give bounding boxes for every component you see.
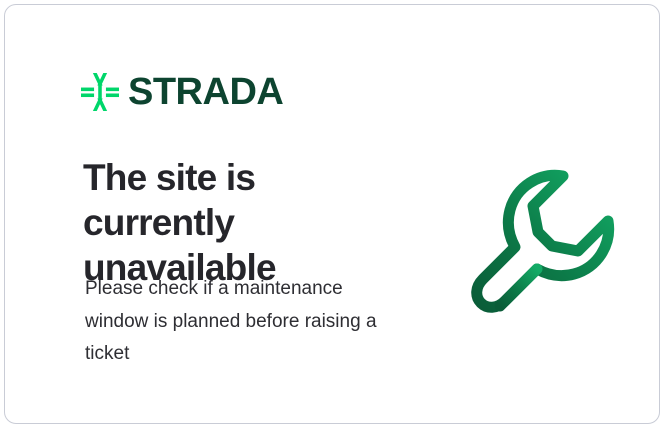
status-card: STRADA The site is currently unavailable…: [4, 4, 660, 424]
strada-asterisk-icon: [81, 73, 119, 111]
error-page: STRADA The site is currently unavailable…: [0, 0, 666, 436]
brand-wordmark: STRADA: [128, 73, 283, 111]
page-description: Please check if a maintenance window is …: [85, 273, 405, 371]
brand-lockup: STRADA: [81, 73, 283, 111]
page-title: The site is currently unavailable: [83, 155, 413, 290]
wrench-icon: [460, 163, 620, 313]
